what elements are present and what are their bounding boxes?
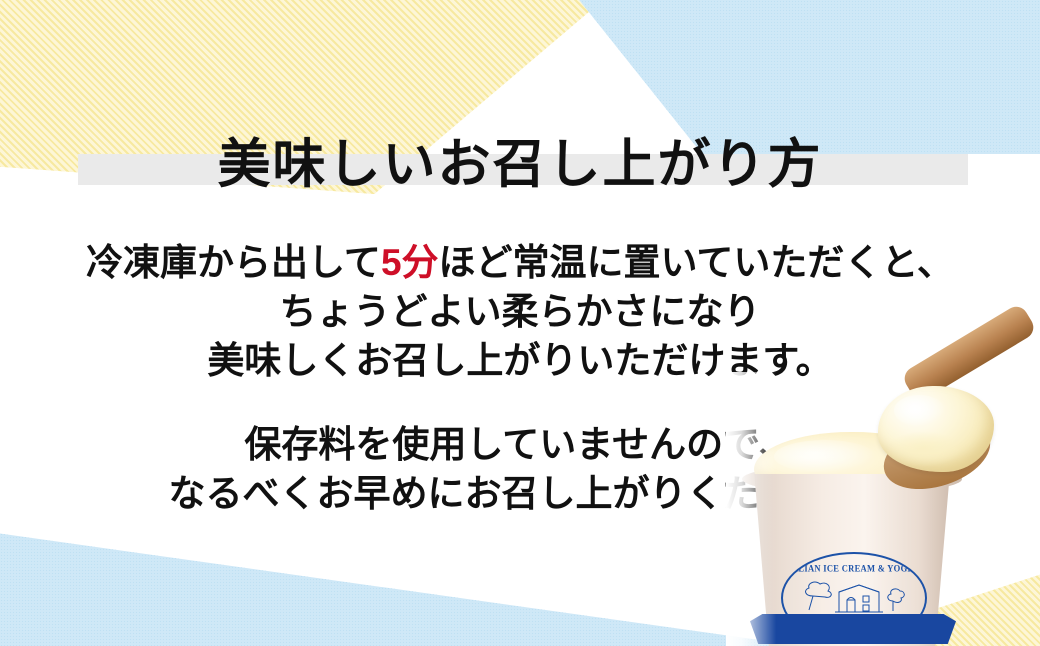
- decoration-top-right-blue-wedge: [470, 0, 1040, 154]
- line-1-accent-duration: 5分: [381, 242, 439, 283]
- cup-label-banner: [750, 614, 956, 644]
- line-1-text-before-accent: 冷凍庫から出して: [86, 242, 381, 283]
- page-title: 美味しいお召し上がり方: [0, 136, 1040, 194]
- product-photo-ice-cream-cup: ITALIAN ICE CREAM & YOGHURT: [726, 372, 1040, 646]
- line-1-text-after-accent: ほど常温に置いていただくと、: [439, 242, 954, 283]
- cup-label-brand-line: ITALIAN ICE CREAM & YOGHURT: [783, 562, 925, 573]
- farmhouse-illustration-icon: [801, 576, 907, 616]
- paragraph-1-line-1: 冷凍庫から出して5分ほど常温に置いていただくと、: [0, 238, 1040, 287]
- cup-label-farm-name: 榎本牧場: [726, 376, 932, 401]
- paragraph-1-line-2: ちょうどよい柔らかさになり: [0, 287, 1040, 336]
- promo-page: 美味しいお召し上がり方 冷凍庫から出して5分ほど常温に置いていただくと、 ちょう…: [0, 0, 1040, 646]
- paragraph-serving-instructions: 冷凍庫から出して5分ほど常温に置いていただくと、 ちょうどよい柔らかさになり 美…: [0, 238, 1040, 386]
